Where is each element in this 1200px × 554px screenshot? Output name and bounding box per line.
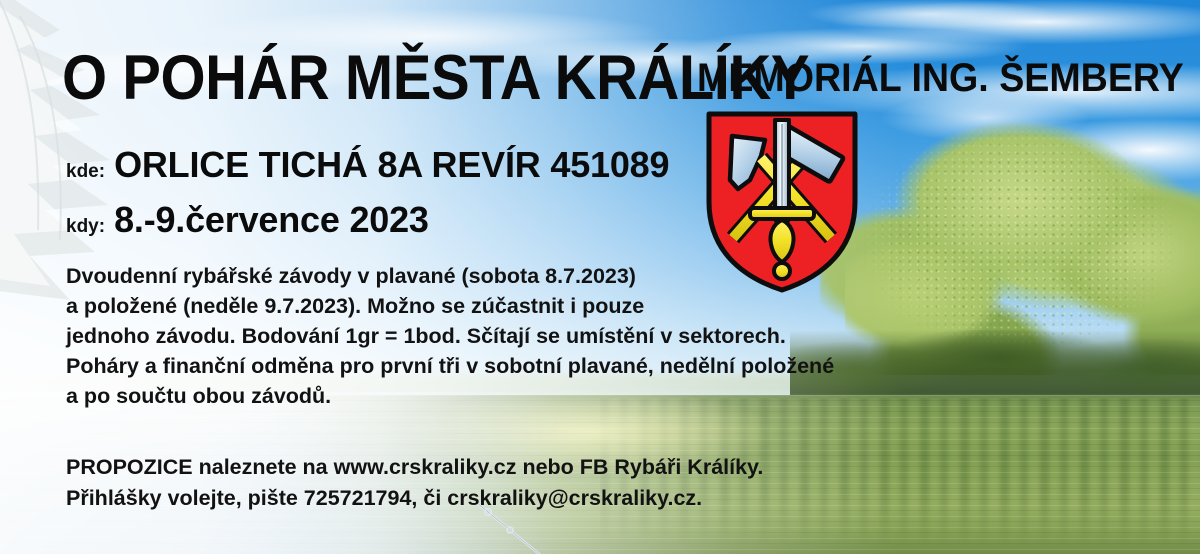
description-block: Dvoudenní rybářské závody v plavané (sob… — [66, 261, 834, 411]
contact-line: Přihlášky volejte, pište 725721794, či c… — [66, 483, 763, 514]
description-line: a po součtu obou závodů. — [66, 381, 834, 411]
poster-canvas: O POHÁR MĚSTA KRÁLÍKY MEMORIÁL ING. ŠEMB… — [0, 0, 1200, 554]
contact-line: PROPOZICE naleznete na www.crskraliky.cz… — [66, 452, 763, 483]
page-subtitle: MEMORIÁL ING. ŠEMBERY — [697, 58, 1184, 98]
where-label: kde: — [66, 161, 105, 183]
where-row: kde: ORLICE TICHÁ 8A REVÍR 451089 — [66, 144, 669, 186]
contact-block: PROPOZICE naleznete na www.crskraliky.cz… — [66, 452, 763, 514]
where-value: ORLICE TICHÁ 8A REVÍR 451089 — [114, 144, 669, 186]
when-row: kdy: 8.-9.července 2023 — [66, 199, 429, 241]
when-label: kdy: — [66, 216, 105, 238]
when-value: 8.-9.července 2023 — [114, 199, 429, 241]
description-line: jednoho závodu. Bodování 1gr = 1bod. Sčí… — [66, 321, 834, 351]
description-line: Poháry a finanční odměna pro první tři v… — [66, 351, 834, 381]
description-line: Dvoudenní rybářské závody v plavané (sob… — [66, 261, 834, 291]
description-line: a položené (neděle 9.7.2023). Možno se z… — [66, 291, 834, 321]
